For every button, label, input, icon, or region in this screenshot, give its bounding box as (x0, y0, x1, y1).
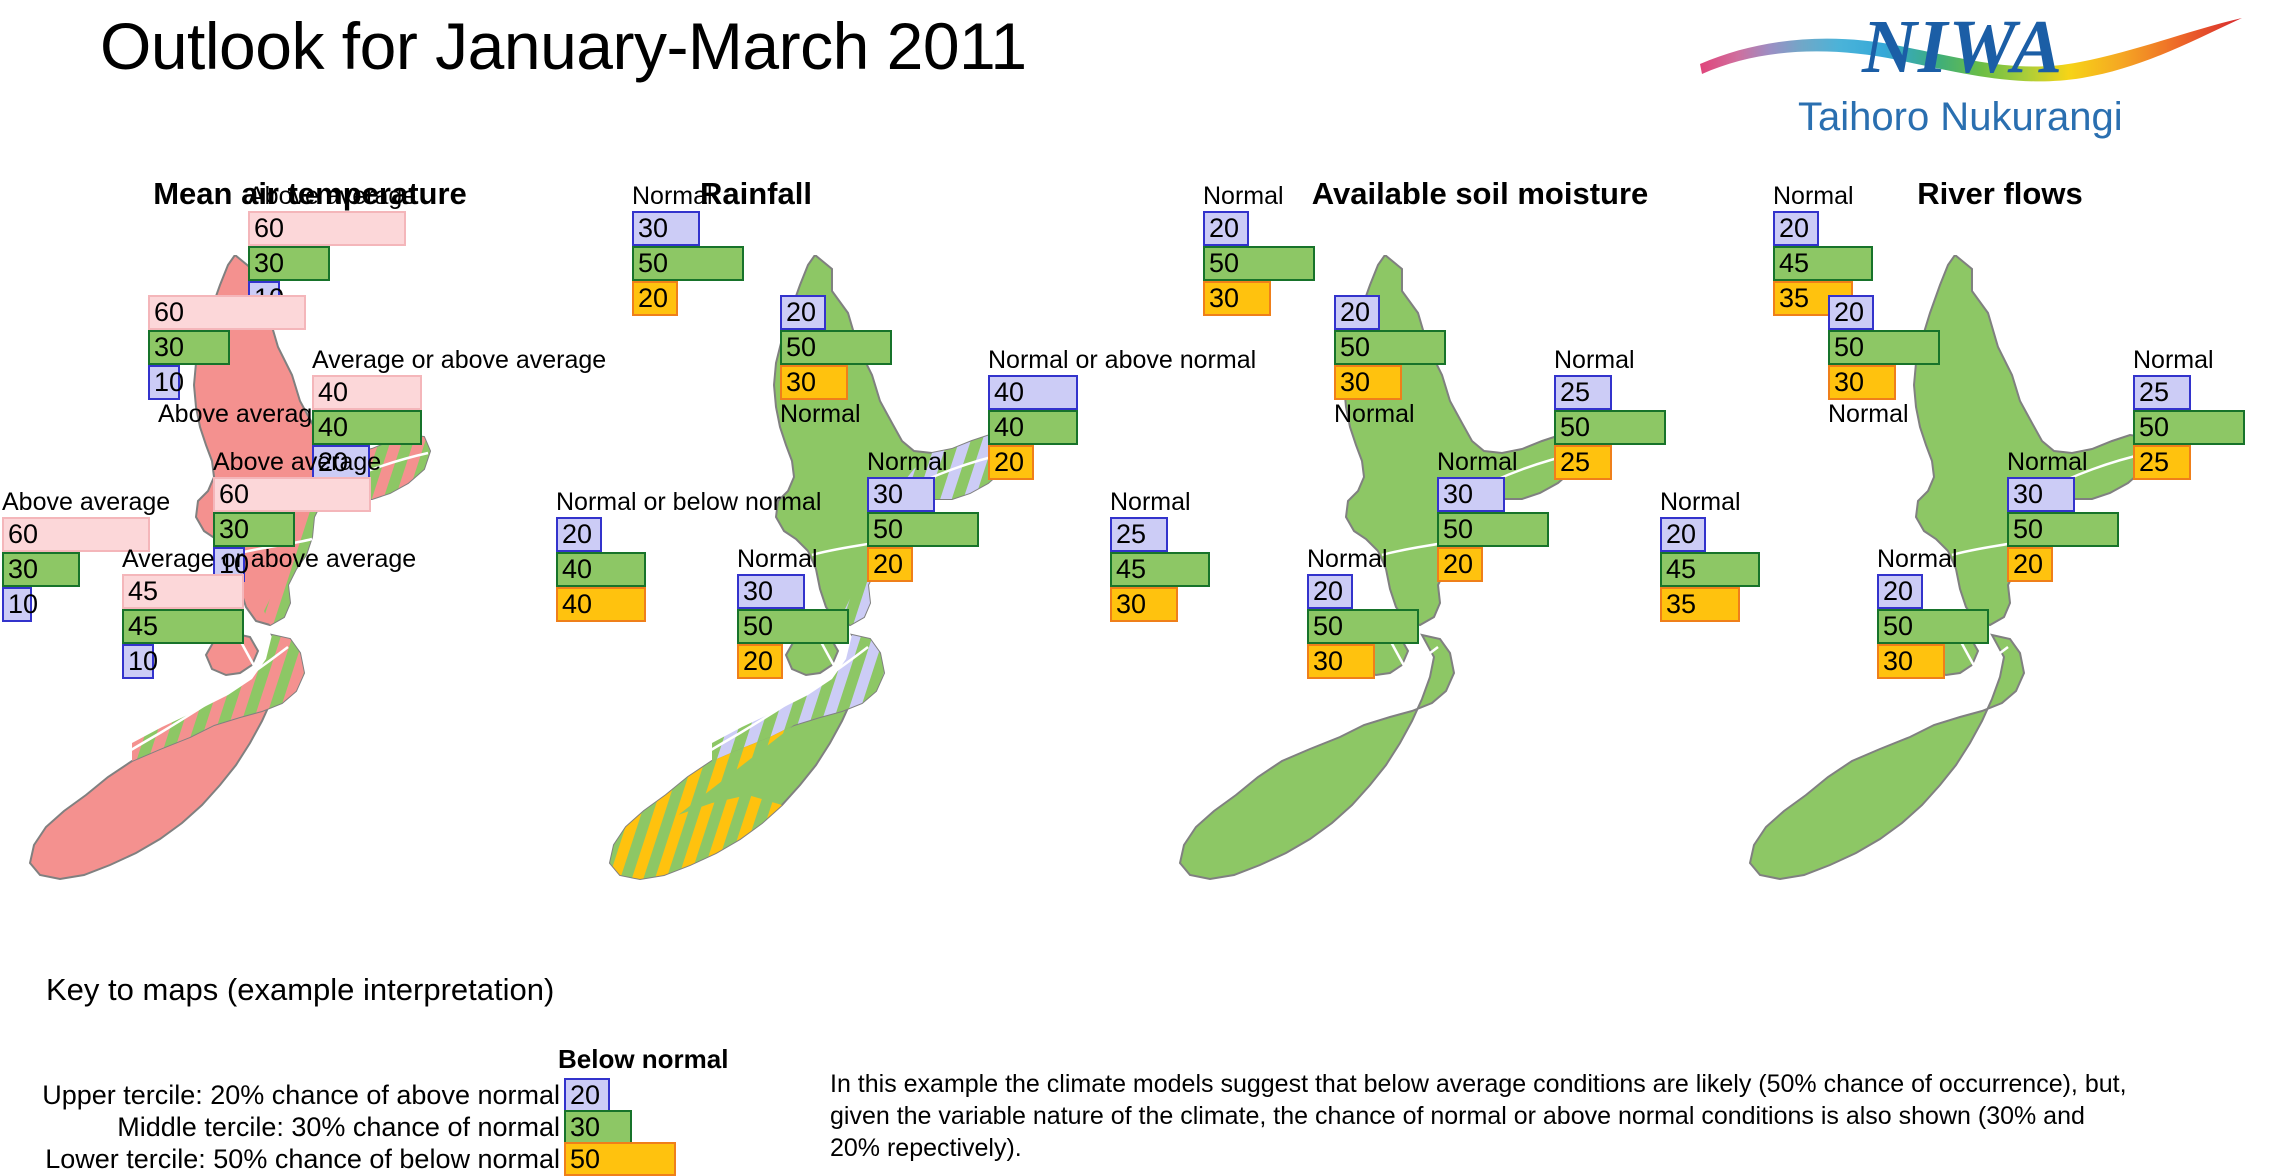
bar-lower-tercile: 30 (1334, 365, 1402, 400)
cluster-river-east-si: Normal 20 50 30 (1877, 545, 1989, 679)
bar-middle-tercile: 50 (1203, 246, 1315, 281)
column-title-rainfall: Rainfall (700, 176, 1000, 212)
cluster-rainfall-west-central: 20 50 30 Normal (780, 295, 892, 429)
bar-upper-tercile: 30 (737, 574, 805, 609)
cluster-label: Normal (1828, 400, 1940, 429)
key-row-upper-tercile: Upper tercile: 20% chance of above norma… (0, 1078, 610, 1112)
cluster-river-west-central: 20 50 30 Normal (1828, 295, 1940, 429)
bar-upper-tercile: 25 (1554, 375, 1612, 410)
bar-middle-tercile: 50 (2007, 512, 2119, 547)
key-row-text: Upper tercile: 20% chance of above norma… (0, 1080, 564, 1111)
cluster-label: Normal (2133, 346, 2245, 375)
bar-lower-tercile: 30 (1828, 365, 1896, 400)
cluster-soil-west-si: Normal 25 45 30 (1110, 488, 1210, 622)
cluster-soil-east-si: Normal 20 50 30 (1307, 545, 1419, 679)
cluster-label: Normal (780, 400, 892, 429)
bar-upper-tercile: 20 (1307, 574, 1353, 609)
bar-lower-tercile: 20 (988, 445, 1034, 480)
bar-lower-tercile: 10 (122, 644, 154, 679)
key-example-title: Below normal (558, 1044, 728, 1075)
bar-upper-tercile: 20 (1877, 574, 1923, 609)
bar-middle-tercile: 30 (148, 330, 230, 365)
bar-upper-tercile: 45 (122, 574, 244, 609)
bar-lower-tercile: 25 (1554, 445, 1612, 480)
cluster-temperature-west-central: 60 30 10 Above average (148, 295, 326, 429)
bar-lower-tercile: 30 (780, 365, 848, 400)
bar-upper-tercile: 30 (1437, 477, 1505, 512)
cluster-rainfall-northland: Normal 30 50 20 (632, 182, 744, 316)
bar-upper-tercile: 20 (1660, 517, 1706, 552)
cluster-soil-northland: Normal 20 50 30 (1203, 182, 1315, 316)
cluster-label: Normal (1334, 400, 1446, 429)
bar-upper-tercile: 20 (1334, 295, 1380, 330)
cluster-soil-eastern-ni: Normal 25 50 25 (1554, 346, 1666, 480)
bar-middle-tercile: 50 (867, 512, 979, 547)
bar-lower-tercile: 20 (737, 644, 783, 679)
bar-lower-tercile: 20 (2007, 547, 2053, 582)
bar-middle-tercile: 50 (780, 330, 892, 365)
cluster-label: Above average (158, 400, 326, 429)
bar-upper-tercile: 20 (1828, 295, 1874, 330)
cluster-label: Normal (1877, 545, 1989, 574)
cluster-label: Normal (1437, 448, 1549, 477)
bar-upper-tercile: 30 (867, 477, 935, 512)
bar-upper-tercile: 20 (1203, 211, 1249, 246)
key-heading: Key to maps (example interpretation) (46, 972, 554, 1008)
cluster-rainfall-north-si: Normal 30 50 20 (867, 448, 979, 582)
bar-middle-tercile: 45 (1773, 246, 1873, 281)
bar-middle-tercile: 45 (1660, 552, 1760, 587)
key-row-lower-tercile: Lower tercile: 50% chance of below norma… (0, 1142, 676, 1176)
cluster-label: Normal (867, 448, 979, 477)
cluster-label: Normal (737, 545, 849, 574)
cluster-label: Normal (1110, 488, 1210, 517)
bar-lower-tercile: 30 (1877, 644, 1945, 679)
bar-upper-tercile: 20 (556, 517, 602, 552)
bar-lower-tercile: 20 (867, 547, 913, 582)
bar-lower-tercile: 35 (1660, 587, 1740, 622)
bar-middle-tercile: 50 (737, 609, 849, 644)
bar-middle-tercile: 50 (1307, 609, 1419, 644)
cluster-label: Above average (213, 448, 381, 477)
cluster-label: Above average (248, 182, 416, 211)
bar-upper-tercile: 30 (632, 211, 700, 246)
bar-middle-tercile: 50 (1828, 330, 1940, 365)
bar-lower-tercile: 20 (632, 281, 678, 316)
niwa-tagline: Taihoro Nukurangi (1798, 95, 2123, 139)
bar-lower-tercile: 50 (564, 1142, 676, 1176)
bar-middle-tercile: 30 (248, 246, 330, 281)
bar-upper-tercile: 20 (1773, 211, 1819, 246)
bar-upper-tercile: 20 (564, 1078, 610, 1112)
bar-upper-tercile: 40 (312, 375, 422, 410)
cluster-label: Normal or below normal (556, 488, 821, 517)
key-row-text: Lower tercile: 50% chance of below norma… (0, 1144, 564, 1175)
bar-upper-tercile: 30 (2007, 477, 2075, 512)
bar-upper-tercile: 25 (1110, 517, 1168, 552)
key-row-text: Middle tercile: 30% chance of normal (0, 1112, 564, 1143)
cluster-label: Average or above average (122, 545, 416, 574)
bar-lower-tercile: 25 (2133, 445, 2191, 480)
bar-lower-tercile: 30 (1110, 587, 1178, 622)
cluster-label: Above average (2, 488, 170, 517)
bar-upper-tercile: 40 (988, 375, 1078, 410)
cluster-soil-north-si: Normal 30 50 20 (1437, 448, 1549, 582)
bar-lower-tercile: 10 (148, 365, 180, 400)
cluster-river-eastern-ni: Normal 25 50 25 (2133, 346, 2245, 480)
bar-middle-tercile: 50 (1334, 330, 1446, 365)
cluster-label: Average or above average (312, 346, 606, 375)
cluster-label: Normal (1660, 488, 1760, 517)
bar-middle-tercile: 30 (213, 512, 295, 547)
bar-upper-tercile: 60 (248, 211, 406, 246)
bar-middle-tercile: 50 (1437, 512, 1549, 547)
cluster-label: Normal (632, 182, 744, 211)
bar-middle-tercile: 40 (556, 552, 646, 587)
bar-upper-tercile: 25 (2133, 375, 2191, 410)
bar-upper-tercile: 20 (780, 295, 826, 330)
cluster-label: Normal (1307, 545, 1419, 574)
key-row-middle-tercile: Middle tercile: 30% chance of normal 30 (0, 1110, 632, 1144)
bar-upper-tercile: 60 (213, 477, 371, 512)
cluster-rainfall-east-si: Normal 30 50 20 (737, 545, 849, 679)
cluster-river-north-si: Normal 30 50 20 (2007, 448, 2119, 582)
cluster-temperature-east-si: Average or above average 45 45 10 (122, 545, 416, 679)
bar-middle-tercile: 50 (2133, 410, 2245, 445)
cluster-soil-west-central: 20 50 30 Normal (1334, 295, 1446, 429)
bar-middle-tercile: 45 (122, 609, 244, 644)
cluster-label: Normal (2007, 448, 2119, 477)
bar-middle-tercile: 40 (312, 410, 422, 445)
cluster-label: Normal (1554, 346, 1666, 375)
bar-lower-tercile: 40 (556, 587, 646, 622)
bar-middle-tercile: 50 (632, 246, 744, 281)
bar-upper-tercile: 60 (148, 295, 306, 330)
bar-middle-tercile: 40 (988, 410, 1078, 445)
niwa-logo: NIWA Taihoro Nukurangi (1690, 2, 2250, 142)
key-explanation-note: In this example the climate models sugge… (830, 1068, 2130, 1164)
bar-middle-tercile: 30 (2, 552, 80, 587)
bar-lower-tercile: 10 (2, 587, 32, 622)
cluster-river-west-si: Normal 20 45 35 (1660, 488, 1760, 622)
bar-lower-tercile: 20 (1437, 547, 1483, 582)
bar-lower-tercile: 30 (1203, 281, 1271, 316)
bar-middle-tercile: 50 (1554, 410, 1666, 445)
outlook-page: Outlook for January-March 2011 (0, 0, 2280, 1156)
cluster-label: Normal (1203, 182, 1315, 211)
page-title: Outlook for January-March 2011 (100, 8, 1027, 84)
cluster-label: Normal (1773, 182, 1873, 211)
bar-middle-tercile: 45 (1110, 552, 1210, 587)
bar-lower-tercile: 30 (1307, 644, 1375, 679)
bar-middle-tercile: 50 (1877, 609, 1989, 644)
bar-middle-tercile: 30 (564, 1110, 632, 1144)
niwa-wordmark: NIWA (1861, 5, 2063, 89)
